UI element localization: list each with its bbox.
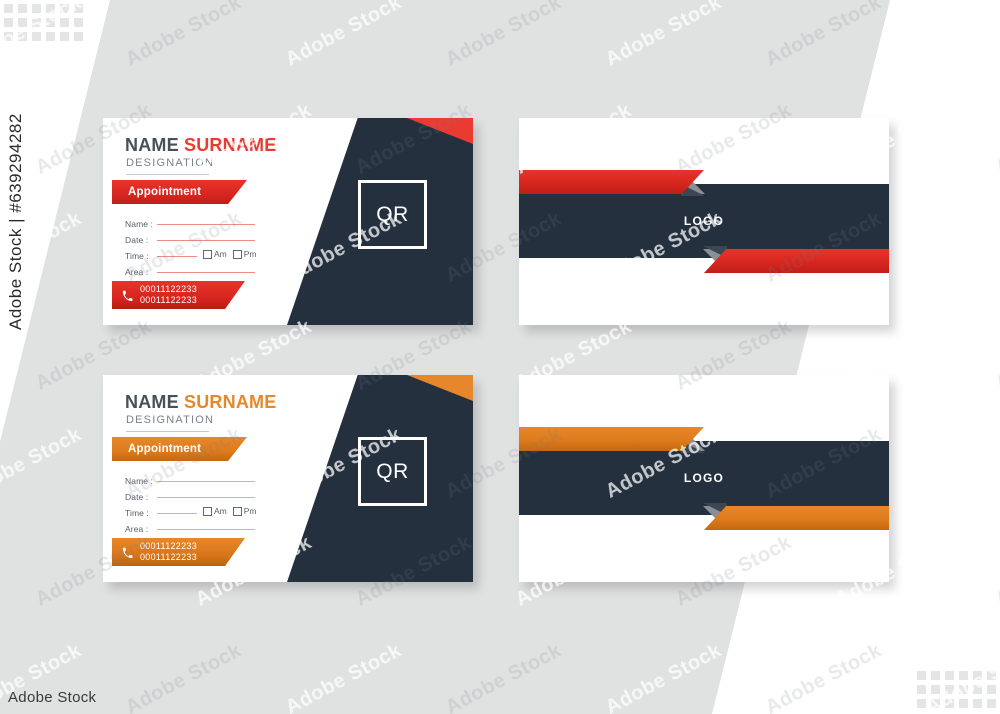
field-rule-name <box>157 224 255 225</box>
field-label-name: Name : <box>125 219 157 229</box>
card-name-last: SURNAME <box>184 392 276 412</box>
navy-band: LOGO <box>519 184 889 258</box>
field-label-date: Date : <box>125 492 157 502</box>
field-rule-time <box>157 256 197 257</box>
field-label-date: Date : <box>125 235 157 245</box>
field-rule-date <box>157 240 255 241</box>
appointment-ribbon: Appointment <box>112 180 247 204</box>
field-row-name[interactable]: Name : <box>125 470 261 486</box>
pm-label: Pm <box>244 249 257 259</box>
card-name-first: NAME <box>125 135 179 155</box>
appointment-fields: Name : Date : Time : Am Pm Area : <box>125 213 261 277</box>
qr-placeholder: QR <box>358 180 427 249</box>
corner-grid-bottom-right <box>917 671 996 708</box>
designation-rule <box>126 174 209 175</box>
id-card-back-orange[interactable]: LOGO <box>519 375 889 582</box>
am-checkbox[interactable] <box>203 250 212 259</box>
field-row-name[interactable]: Name : <box>125 213 261 229</box>
field-rule-area <box>157 529 255 530</box>
field-row-date[interactable]: Date : <box>125 229 261 245</box>
pm-checkbox[interactable] <box>233 507 242 516</box>
watermark-tile: Adobe Stock <box>992 531 1000 611</box>
am-label: Am <box>214 506 227 516</box>
accent-ribbon-bottom <box>704 249 889 273</box>
accent-ribbon-bottom <box>704 506 889 530</box>
designation-rule <box>126 431 209 432</box>
logo-label: LOGO <box>519 214 889 228</box>
field-label-time: Time : <box>125 251 157 261</box>
field-row-area[interactable]: Area : <box>125 261 261 277</box>
stock-bottom-watermark: Adobe Stock <box>8 689 96 706</box>
qr-label: QR <box>376 203 409 227</box>
id-card-front-orange[interactable]: NAME SURNAME DESIGNATION Appointment Nam… <box>103 375 473 582</box>
phone-numbers: 00011122233 00011122233 <box>140 541 197 563</box>
watermark-tile: Adobe Stock <box>992 99 1000 179</box>
card-designation: DESIGNATION <box>126 414 214 426</box>
phone-number-2: 00011122233 <box>140 552 197 563</box>
watermark-tile: Adobe Stock <box>922 423 1000 503</box>
phone-icon <box>122 290 133 301</box>
qr-placeholder: QR <box>358 437 427 506</box>
field-row-area[interactable]: Area : <box>125 518 261 534</box>
ampm-group[interactable]: Am Pm <box>203 249 261 259</box>
accent-ribbon-top <box>519 427 704 451</box>
card-designation: DESIGNATION <box>126 157 214 169</box>
watermark-tile: Adobe Stock <box>922 0 1000 72</box>
design-preview-canvas: NAME SURNAME DESIGNATION Appointment Nam… <box>0 0 1000 714</box>
logo-label: LOGO <box>519 471 889 485</box>
ampm-group[interactable]: Am Pm <box>203 506 261 516</box>
field-label-area: Area : <box>125 524 157 534</box>
field-label-area: Area : <box>125 267 157 277</box>
navy-band: LOGO <box>519 441 889 515</box>
id-card-front-red[interactable]: NAME SURNAME DESIGNATION Appointment Nam… <box>103 118 473 325</box>
am-label: Am <box>214 249 227 259</box>
card-name: NAME SURNAME <box>125 135 276 156</box>
qr-label: QR <box>376 460 409 484</box>
field-row-time[interactable]: Time : Am Pm <box>125 502 261 518</box>
appointment-label: Appointment <box>128 186 201 198</box>
appointment-fields: Name : Date : Time : Am Pm Area : <box>125 470 261 534</box>
field-rule-area <box>157 272 255 273</box>
phone-ribbon: 00011122233 00011122233 <box>112 538 245 566</box>
phone-number-1: 00011122233 <box>140 284 197 295</box>
card-name: NAME SURNAME <box>125 392 276 413</box>
card-name-last: SURNAME <box>184 135 276 155</box>
phone-icon <box>122 547 133 558</box>
background-diagonal-shape <box>0 0 900 714</box>
corner-grid-top-left <box>4 4 83 41</box>
field-rule-date <box>157 497 255 498</box>
field-label-name: Name : <box>125 476 157 486</box>
am-checkbox[interactable] <box>203 507 212 516</box>
watermark-tile: Adobe Stock <box>922 207 1000 287</box>
field-row-date[interactable]: Date : <box>125 486 261 502</box>
card-name-first: NAME <box>125 392 179 412</box>
phone-ribbon: 00011122233 00011122233 <box>112 281 245 309</box>
accent-ribbon-top <box>519 170 704 194</box>
field-rule-name <box>157 481 255 482</box>
id-card-back-red[interactable]: LOGO <box>519 118 889 325</box>
phone-number-2: 00011122233 <box>140 295 197 306</box>
pm-label: Pm <box>244 506 257 516</box>
watermark-tile: Adobe Stock <box>992 315 1000 395</box>
phone-number-1: 00011122233 <box>140 541 197 552</box>
phone-numbers: 00011122233 00011122233 <box>140 284 197 306</box>
watermark-tile: Adobe Stock <box>762 639 886 714</box>
pm-checkbox[interactable] <box>233 250 242 259</box>
appointment-ribbon: Appointment <box>112 437 247 461</box>
appointment-label: Appointment <box>128 443 201 455</box>
field-row-time[interactable]: Time : Am Pm <box>125 245 261 261</box>
field-rule-time <box>157 513 197 514</box>
field-label-time: Time : <box>125 508 157 518</box>
stock-id-watermark: Adobe Stock | #639294282 <box>6 113 26 330</box>
